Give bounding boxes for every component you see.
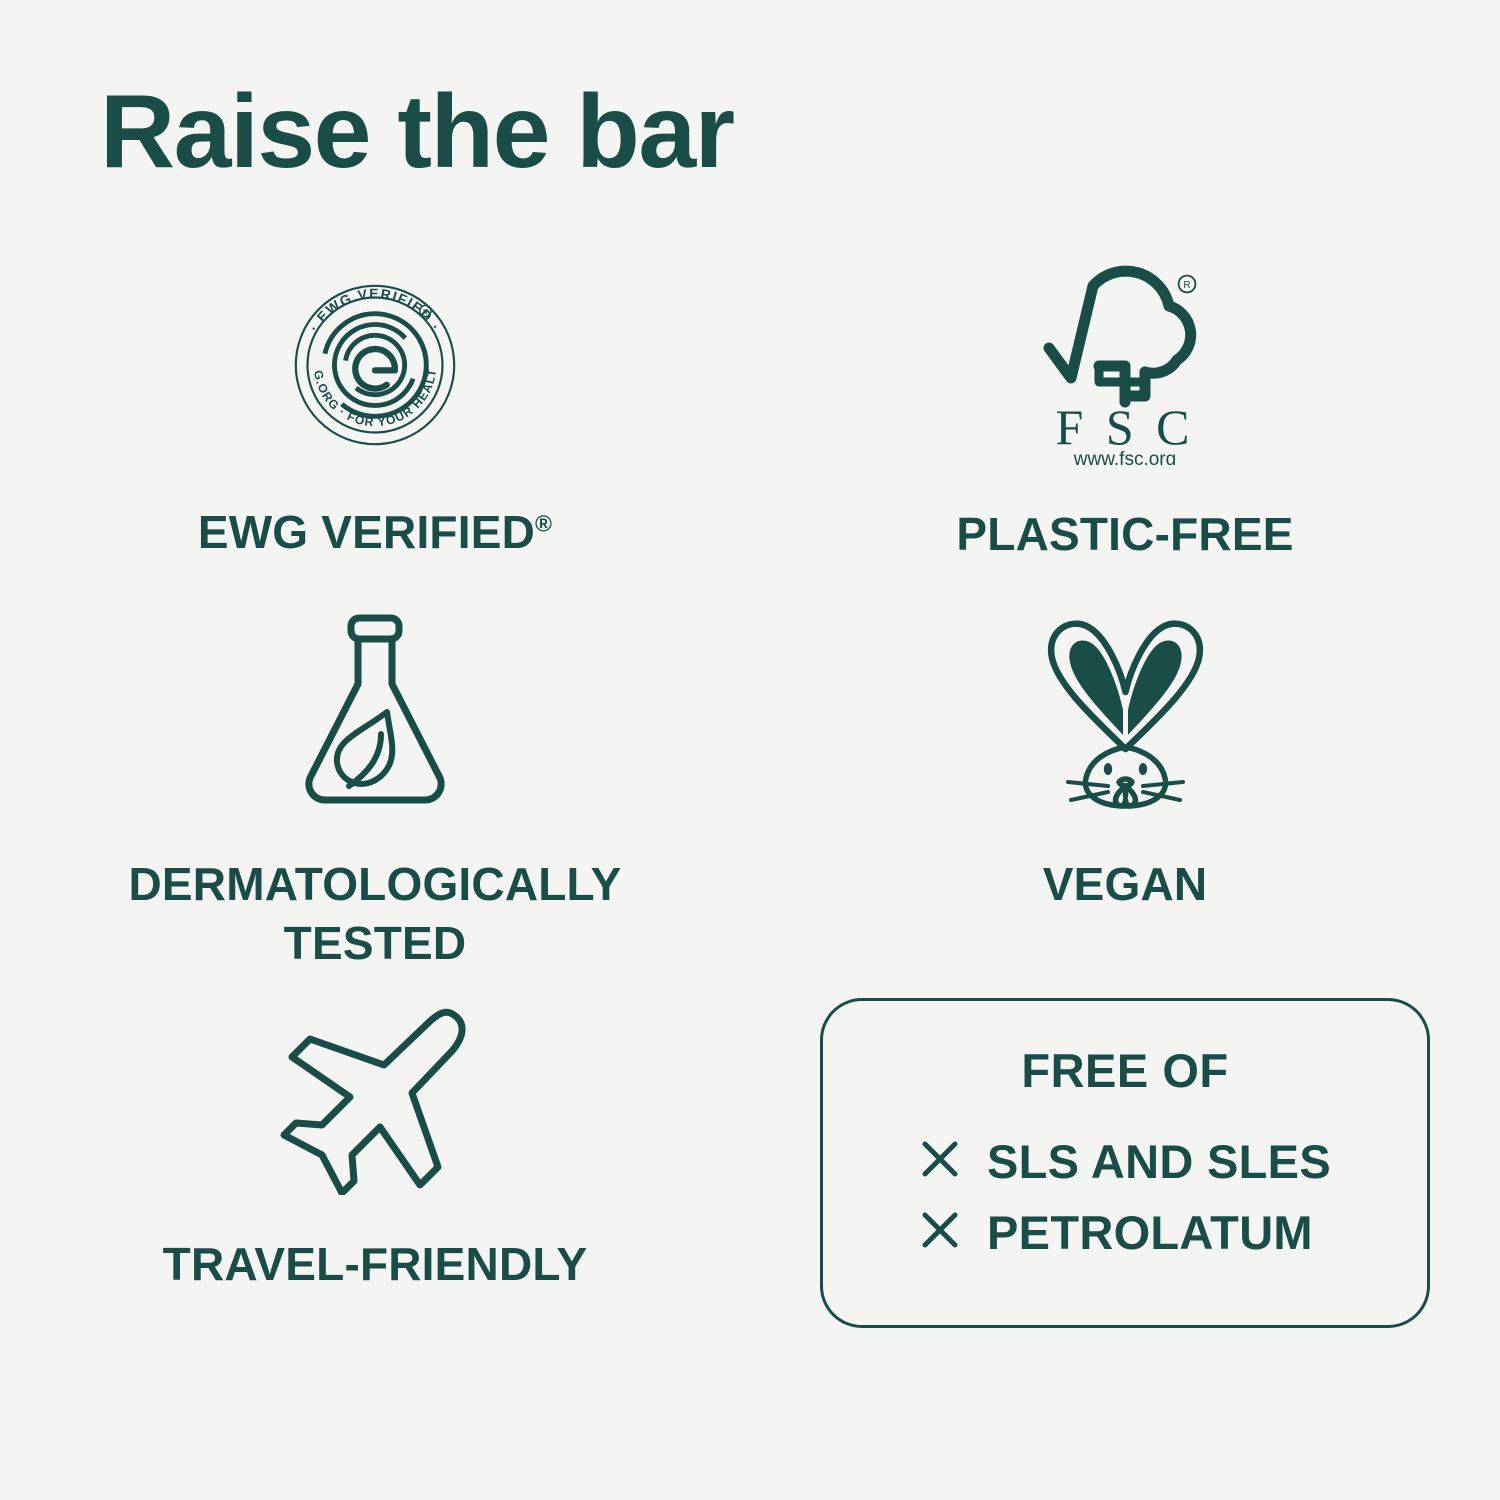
- bunny-heart-ears-icon: [1038, 595, 1213, 810]
- badge-label-vegan: VEGAN: [1043, 855, 1208, 914]
- badge-label-text: EWG VERIFIED: [198, 506, 535, 558]
- fsc-url: www.fsc.org: [1073, 449, 1176, 465]
- badge-ewg-verified: · EWG VERIFIED · EWG.ORG · FOR YOUR HEAL…: [0, 255, 750, 595]
- free-of-item-label: PETROLATUM: [987, 1205, 1313, 1260]
- badge-travel-friendly: TRAVEL-FRIENDLY: [0, 990, 750, 1390]
- x-mark-icon: [919, 1209, 961, 1256]
- free-of-panel: FREE OF SLS AND S: [750, 990, 1500, 1390]
- airplane-icon: [270, 990, 480, 1195]
- badge-label-ewg-verified: EWG VERIFIED®: [198, 503, 552, 562]
- badge-label-dermatologically-tested: DERMATOLOGICALLY TESTED: [55, 855, 695, 973]
- ewg-verified-seal-icon: · EWG VERIFIED · EWG.ORG · FOR YOUR HEAL…: [285, 255, 465, 455]
- badge-row-2: DERMATOLOGICALLY TESTED: [0, 595, 1500, 990]
- svg-text:R: R: [1183, 280, 1190, 291]
- registered-mark: ®: [535, 511, 552, 537]
- svg-text:R: R: [423, 309, 428, 316]
- free-of-list: SLS AND SLES PE: [919, 1134, 1331, 1260]
- badge-row-1: · EWG VERIFIED · EWG.ORG · FOR YOUR HEAL…: [0, 255, 1500, 595]
- infographic-page: Raise the bar · EWG VERIF: [0, 0, 1500, 1500]
- badge-plastic-free: R F S C www.fsc.org PLASTIC-FREE: [750, 255, 1500, 595]
- fsc-acronym: F S C: [1056, 399, 1195, 455]
- badge-label-travel-friendly: TRAVEL-FRIENDLY: [163, 1235, 588, 1294]
- free-of-box: FREE OF SLS AND S: [820, 998, 1430, 1328]
- badge-label-plastic-free: PLASTIC-FREE: [956, 505, 1293, 564]
- free-of-item: SLS AND SLES: [919, 1134, 1331, 1189]
- badge-grid: · EWG VERIFIED · EWG.ORG · FOR YOUR HEAL…: [0, 255, 1500, 1390]
- free-of-item: PETROLATUM: [919, 1205, 1331, 1260]
- free-of-item-label: SLS AND SLES: [987, 1134, 1331, 1189]
- badge-dermatologically-tested: DERMATOLOGICALLY TESTED: [0, 595, 750, 990]
- page-title: Raise the bar: [100, 78, 734, 187]
- badge-row-3: TRAVEL-FRIENDLY FREE OF: [0, 990, 1500, 1390]
- x-mark-icon: [919, 1138, 961, 1185]
- fsc-tree-checkmark-icon: R F S C www.fsc.org: [1041, 255, 1209, 465]
- flask-with-leaf-icon: [295, 595, 455, 810]
- free-of-title: FREE OF: [1021, 1043, 1228, 1098]
- badge-vegan: VEGAN: [750, 595, 1500, 990]
